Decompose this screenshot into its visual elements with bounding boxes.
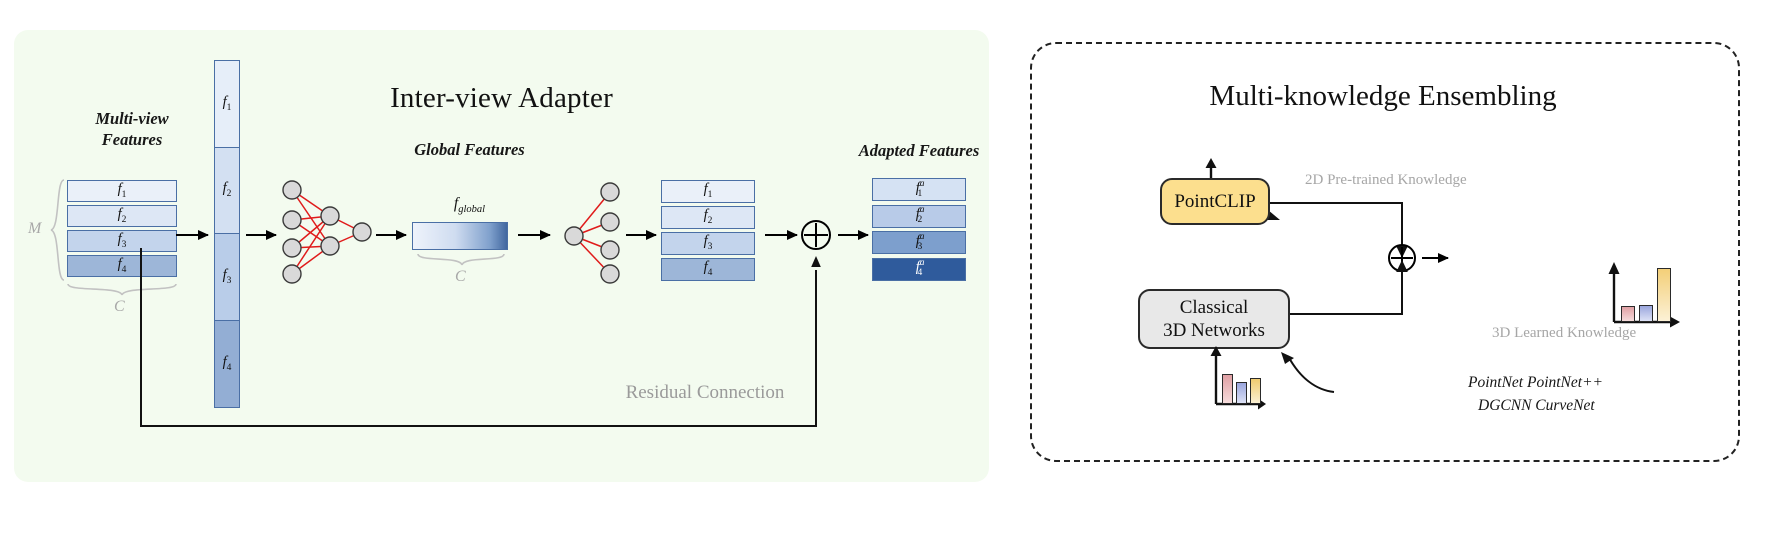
- arrow-mlp-to-global: [376, 234, 406, 236]
- concat-segment: f1: [215, 61, 239, 148]
- network-names-line1: PointNet PointNet++: [1468, 371, 1603, 394]
- feature-label: f4: [118, 257, 127, 275]
- feature-label: fa4: [916, 259, 923, 278]
- chart-bar: [1657, 268, 1671, 322]
- feature-label: f2: [223, 181, 232, 199]
- feature-label: fa2: [916, 206, 923, 225]
- feature-label: f1: [223, 95, 232, 113]
- panel-title-multi-knowledge-ensembling: Multi-knowledge Ensembling: [1030, 80, 1736, 113]
- feature-label: f2: [118, 207, 127, 225]
- brace-m-label: M: [28, 220, 41, 238]
- feature-label: f1: [118, 182, 127, 200]
- chart-bar: [1236, 382, 1247, 404]
- arrow-network-names-to-box: [1272, 348, 1342, 398]
- feature-label: f1: [704, 182, 713, 200]
- feature-label: f2: [704, 208, 713, 226]
- adapted-feature-row: fa4: [872, 258, 966, 281]
- classical-3d-networks-box[interactable]: Classical 3D Networks: [1138, 289, 1290, 349]
- network-names-line2: DGCNN CurveNet: [1468, 394, 1603, 417]
- brace-c-multiview-label: C: [114, 298, 125, 316]
- classical-3d-networks-label-line2: 3D Networks: [1163, 319, 1265, 342]
- residual-sum-icon: [801, 220, 831, 250]
- f-global-label: fglobal: [417, 195, 522, 215]
- residual-connection-path: [130, 248, 830, 438]
- concat-segment: f2: [215, 148, 239, 235]
- arrow-global-to-mlp2: [518, 234, 550, 236]
- caption-3d-learned-knowledge: 3D Learned Knowledge: [1492, 325, 1636, 342]
- pointclip-box[interactable]: PointCLIP: [1160, 178, 1270, 225]
- adapted-feature-stack: fa1 fa2 fa3 fa4: [872, 178, 966, 284]
- chart-bar: [1250, 378, 1261, 404]
- diagram-canvas: Inter-view Adapter Multi-view Features f…: [0, 0, 1766, 550]
- classical-3d-networks-label-line1: Classical: [1163, 296, 1265, 319]
- mlp-node: [353, 223, 371, 241]
- arrow-mlp2-to-features: [626, 234, 656, 236]
- residual-connection-label: Residual Connection: [580, 382, 830, 404]
- chart-bar: [1222, 374, 1233, 404]
- adapted-feature-row: fa1: [872, 178, 966, 201]
- multi-view-features-label: Multi-view Features: [52, 108, 212, 150]
- chart-bar: [1639, 305, 1653, 322]
- brace-m: [48, 178, 68, 284]
- chart-bar: [1621, 306, 1635, 322]
- mlp-node: [321, 207, 339, 225]
- mlp-node: [283, 211, 301, 229]
- connector-3d-knowledge: [1288, 252, 1416, 322]
- arrow-sum-to-adapted: [838, 234, 868, 236]
- decoded-feature-row: f2: [661, 206, 755, 229]
- ensembled-output-chart: [1604, 256, 1686, 332]
- mlp-node: [601, 183, 619, 201]
- classical-input-chart: [1208, 342, 1270, 410]
- multi-view-feature-row: f2: [67, 205, 177, 227]
- multi-view-features-label-line2: Features: [52, 129, 212, 150]
- decoded-feature-row: f1: [661, 180, 755, 203]
- mlp-node: [283, 181, 301, 199]
- arrow-stack-to-concat: [176, 234, 208, 236]
- arrow-concat-to-mlp: [246, 234, 276, 236]
- adapted-feature-row: fa2: [872, 205, 966, 228]
- multi-view-feature-row: f1: [67, 180, 177, 202]
- pointclip-label: PointCLIP: [1174, 191, 1255, 213]
- arrow-sum-to-output-chart: [1422, 257, 1448, 259]
- feature-label: fa1: [916, 180, 923, 199]
- mlp-node: [601, 213, 619, 231]
- multi-view-features-label-line1: Multi-view: [52, 108, 212, 129]
- feature-label: f3: [118, 232, 127, 250]
- adapted-features-label: Adapted Features: [805, 140, 1033, 161]
- network-names: PointNet PointNet++ DGCNN CurveNet: [1468, 371, 1603, 417]
- feature-label: fa3: [916, 233, 923, 252]
- caption-2d-pretrained-knowledge: 2D Pre-trained Knowledge: [1305, 172, 1467, 189]
- global-features-label: Global Features: [382, 139, 557, 160]
- global-feature-bar: [412, 222, 508, 250]
- mlp-node: [565, 227, 583, 245]
- arrow-features-to-sum: [765, 234, 797, 236]
- adapted-feature-row: fa3: [872, 231, 966, 254]
